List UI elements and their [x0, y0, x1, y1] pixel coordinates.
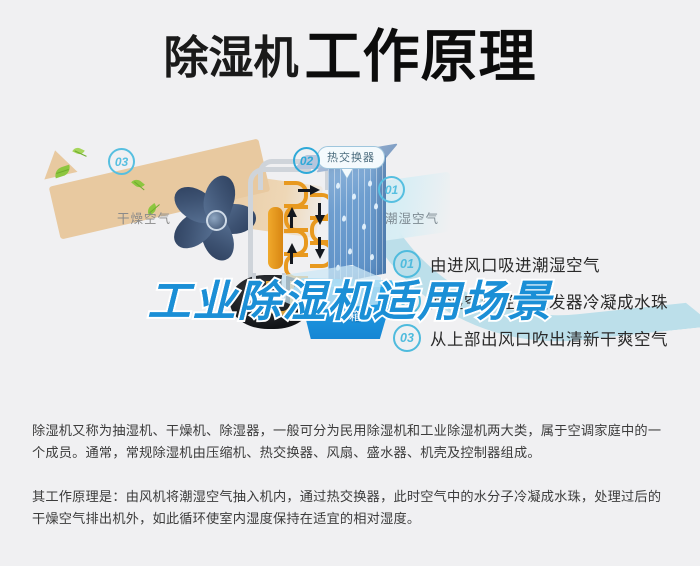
badge-03-diagram: 03 [108, 148, 135, 175]
condenser-coil [270, 179, 336, 277]
evaporator-fins [328, 155, 386, 284]
badge-02-diagram: 02 [293, 147, 320, 174]
page-title: 除湿机 工作原理 [0, 22, 700, 92]
step-text: 从上部出风口吹出清新干爽空气 [430, 326, 668, 350]
fan-hub [206, 210, 227, 231]
description-paragraph-1: 除湿机又称为抽湿机、干燥机、除湿器，一般可分为民用除湿机和工业除湿机两大类，属于… [32, 420, 672, 464]
badge-01-diagram: 01 [378, 176, 405, 203]
watermark-text: 工业除湿机适用场景 [148, 267, 553, 329]
description-paragraph-2: 其工作原理是：由风机将潮湿空气抽入机内，通过热交换器，此时空气中的水分子冷凝成水… [32, 486, 672, 530]
leaf-icon [72, 146, 85, 156]
heat-exchanger-callout: 热交换器 [317, 146, 385, 169]
page-title-part1: 除湿机 [163, 35, 298, 80]
moist-air-label: 潮湿空气 [385, 208, 439, 227]
infographic-page: 除湿机 工作原理 [0, 0, 700, 566]
dry-air-label: 干燥空气 [117, 208, 171, 227]
page-title-part2: 工作原理 [305, 29, 537, 86]
compressor-cylinder [268, 207, 283, 269]
